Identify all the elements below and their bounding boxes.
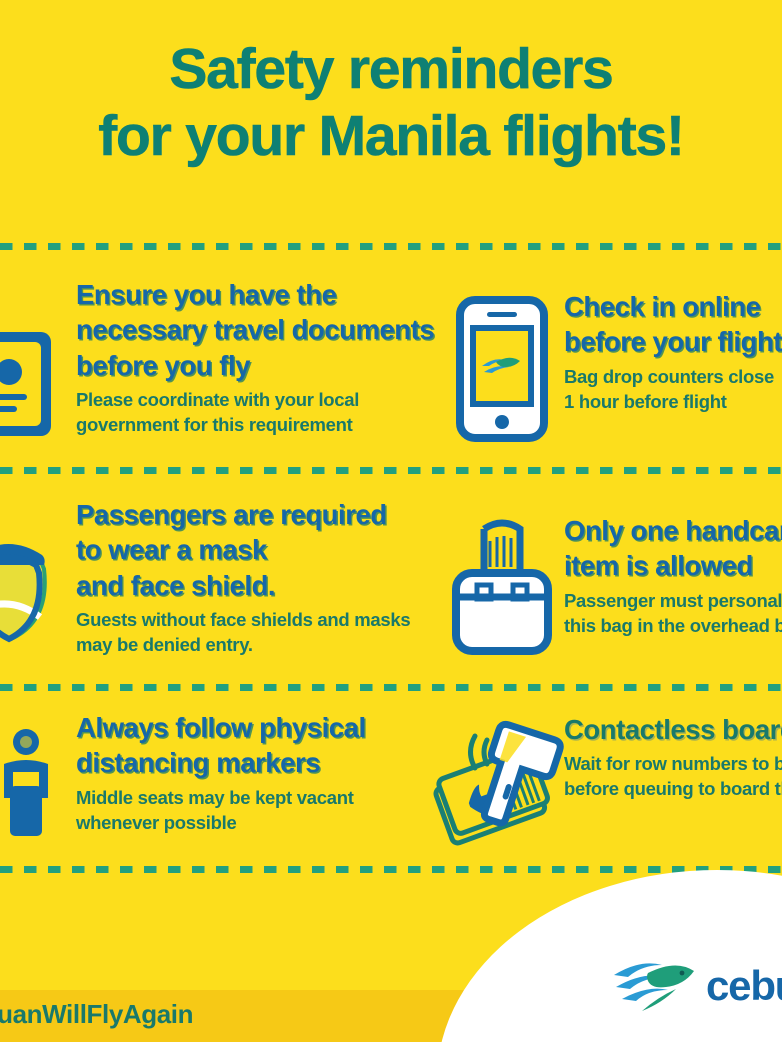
tip-subtext: Passenger must personally stow: [564, 589, 782, 614]
footer-hashtag: #JuanWillFlyAgain: [0, 999, 193, 1030]
page-title-line-2: for your Manila flights!: [0, 103, 782, 170]
cebu-pacific-bird-logo: [612, 955, 698, 1017]
passport-document-icon: [0, 316, 71, 446]
handcarry-bag-icon: [450, 515, 554, 663]
tip-card-online-checkin: Check in online before your flight Bag d…: [440, 249, 782, 465]
footer-hashtag-text: #JuanWillFlyAgain: [0, 999, 193, 1029]
tip-subtext: Bag drop counters close: [564, 365, 782, 390]
tip-subtext: government for this requirement: [76, 413, 446, 438]
tip-heading: before you fly: [76, 348, 446, 383]
tip-heading: Ensure you have the: [76, 277, 446, 312]
tip-subtext: Guests without face shields and masks: [76, 608, 446, 633]
mobile-phone-checkin-icon: [456, 296, 548, 442]
tip-heading: Only one handcarry: [564, 513, 782, 548]
tip-subtext: Middle seats may be kept vacant: [76, 786, 446, 811]
tip-subtext: Wait for row numbers to be called: [564, 752, 782, 777]
physical-distancing-person-icon: [0, 724, 68, 848]
tip-row-2: Passengers are required to wear a mask a…: [0, 473, 782, 682]
tip-subtext: before queuing to board the plane: [564, 777, 782, 802]
infographic-poster: Safety reminders for your Manila flights…: [0, 0, 782, 1042]
tip-row-1: Ensure you have the necessary travel doc…: [0, 249, 782, 465]
tip-card-handcarry-bag: Only one handcarry item is allowed Passe…: [440, 473, 782, 682]
tip-subtext: 1 hour before flight: [564, 390, 782, 415]
tip-heading: and face shield.: [76, 568, 446, 603]
page-title: Safety reminders for your Manila flights…: [0, 36, 782, 171]
brand-wordmark: cebu p: [706, 965, 782, 1007]
tip-subtext: whenever possible: [76, 811, 446, 836]
brand-logo: cebu p: [612, 955, 782, 1017]
tip-row-3: Always follow physical distancing marker…: [0, 690, 782, 864]
tip-heading: to wear a mask: [76, 532, 446, 567]
tip-heading: Passengers are required: [76, 497, 446, 532]
tip-card-contactless-boarding: Contactless boarding Wait for row number…: [440, 690, 782, 864]
tip-card-travel-documents: Ensure you have the necessary travel doc…: [0, 249, 446, 465]
tip-heading: before your flight: [564, 324, 782, 359]
tip-subtext: this bag in the overhead bin: [564, 614, 782, 639]
face-shield-mask-icon: [0, 525, 68, 657]
page-title-line-1: Safety reminders: [0, 36, 782, 103]
tip-card-mask-face-shield: Passengers are required to wear a mask a…: [0, 473, 446, 682]
tip-heading: item is allowed: [564, 548, 782, 583]
tip-subtext: Please coordinate with your local: [76, 388, 446, 413]
tip-heading: Check in online: [564, 289, 782, 324]
tip-heading: Contactless boarding: [564, 712, 782, 747]
contactless-boarding-scanner-icon: [437, 714, 567, 854]
divider-dashed-4: [0, 866, 782, 873]
tip-heading: distancing markers: [76, 745, 446, 780]
tip-subtext: may be denied entry.: [76, 633, 446, 658]
tip-heading: necessary travel documents: [76, 312, 446, 347]
tip-heading: Always follow physical: [76, 710, 446, 745]
tip-card-physical-distancing: Always follow physical distancing marker…: [0, 690, 446, 864]
